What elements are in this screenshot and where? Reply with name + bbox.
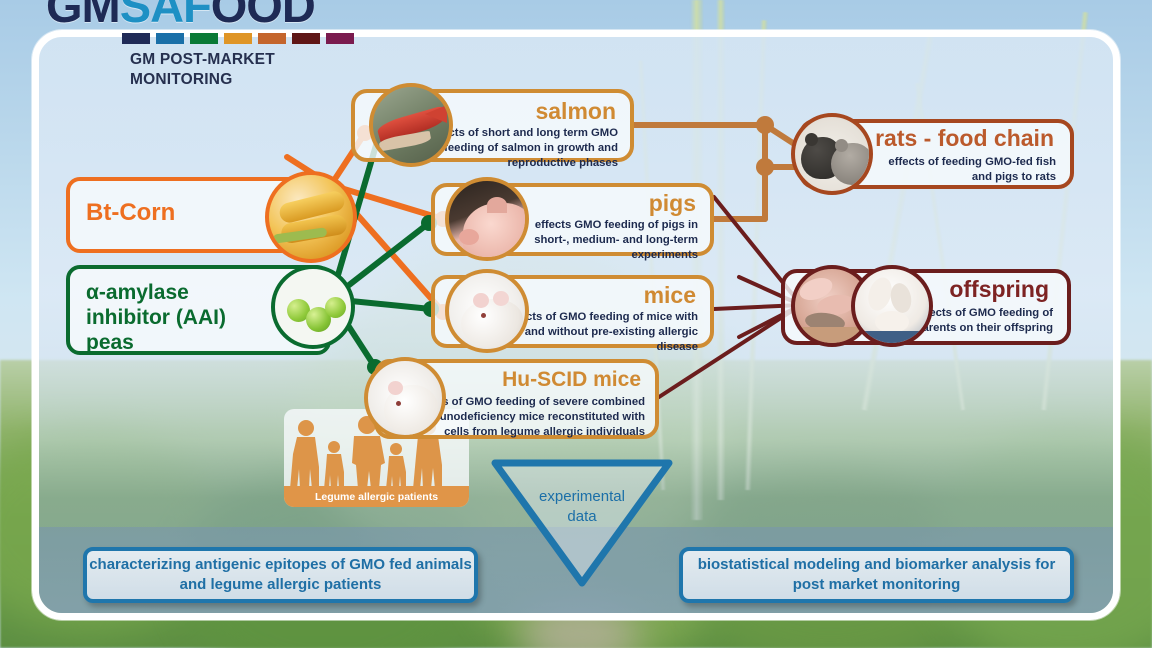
btcorn-label: Bt-Corn bbox=[86, 201, 175, 225]
peas-label: α-amylase inhibitor (AAI) peas bbox=[86, 281, 226, 355]
offspring-photo-bubble-2 bbox=[851, 265, 933, 347]
rat-ear bbox=[805, 133, 818, 146]
connector-node bbox=[756, 116, 774, 134]
diagram-frame: Bt-Corn α-amylase inhibitor (AAI) peas s… bbox=[32, 30, 1120, 620]
rats-desc: effects of feeding GMO-fed fish and pigs… bbox=[881, 155, 1056, 185]
pig-ear bbox=[487, 197, 507, 213]
logo-color-bar bbox=[156, 33, 184, 44]
page-title-line1: GM POST-MARKET bbox=[130, 50, 275, 70]
rats-title: rats - food chain bbox=[875, 127, 1054, 150]
legume-caption: Legume allergic patients bbox=[315, 491, 438, 503]
diagram-canvas: Bt-Corn α-amylase inhibitor (AAI) peas s… bbox=[39, 37, 1113, 613]
salmon-photo-bubble bbox=[369, 83, 453, 167]
offspring-title: offspring bbox=[949, 278, 1049, 301]
gmsafood-logo: GMSAFOOD bbox=[46, 0, 354, 44]
rat-ear bbox=[835, 139, 848, 152]
mice-title: mice bbox=[644, 284, 696, 307]
salmon-title: salmon bbox=[535, 100, 616, 123]
logo-text-gm: GM bbox=[46, 0, 120, 32]
output-epitopes-text: characterizing antigenic epitopes of GMO… bbox=[87, 555, 474, 595]
logo-text-ood: OOD bbox=[211, 0, 315, 32]
mouse-ear bbox=[388, 381, 403, 395]
pigs-title: pigs bbox=[649, 192, 696, 215]
logo-color-bar bbox=[122, 33, 150, 44]
page-title-line2: MONITORING bbox=[130, 70, 275, 90]
output-box-biostat[interactable]: biostatistical modeling and biomarker an… bbox=[679, 547, 1074, 603]
mouse-body bbox=[461, 299, 523, 347]
huscid-title: Hu-SCID mice bbox=[502, 369, 641, 390]
experimental-data-label: experimental data bbox=[491, 487, 673, 528]
connector-node bbox=[756, 158, 774, 176]
mouse-photo-bubble bbox=[445, 269, 529, 353]
mouse-ear bbox=[493, 291, 509, 306]
pig-photo-bubble bbox=[445, 177, 529, 261]
peas-label-line3: peas bbox=[86, 331, 226, 356]
mouse-pup bbox=[875, 311, 909, 333]
peas-photo-bubble bbox=[271, 265, 355, 349]
logo-color-bar bbox=[326, 33, 354, 44]
legume-caption-bar: Legume allergic patients bbox=[284, 486, 469, 507]
mouse-eye bbox=[481, 313, 486, 318]
rats-photo-bubble bbox=[791, 113, 873, 195]
logo-color-bars bbox=[122, 33, 354, 44]
logo-color-bar bbox=[190, 33, 218, 44]
mouse-ear bbox=[473, 293, 489, 308]
output-biostat-text: biostatistical modeling and biomarker an… bbox=[683, 555, 1070, 595]
pig-snout bbox=[459, 229, 479, 245]
peas-label-line2: inhibitor (AAI) bbox=[86, 306, 226, 331]
experimental-data-arrow: experimental data bbox=[491, 457, 673, 587]
logo-color-bar bbox=[292, 33, 320, 44]
pea-3 bbox=[325, 297, 346, 318]
output-box-epitopes[interactable]: characterizing antigenic epitopes of GMO… bbox=[83, 547, 478, 603]
logo-color-bar bbox=[258, 33, 286, 44]
logo-color-bar bbox=[224, 33, 252, 44]
logo-text-saf: SAF bbox=[120, 0, 211, 32]
peas-label-line1: α-amylase bbox=[86, 281, 226, 306]
logo-wordmark: GMSAFOOD bbox=[46, 0, 354, 29]
triangle-label-line2: data bbox=[491, 507, 673, 527]
mouse-eye bbox=[396, 401, 401, 406]
corn-photo-bubble bbox=[265, 171, 357, 263]
huscid-mouse-photo-bubble bbox=[364, 357, 446, 439]
page-title: GM POST-MARKET MONITORING bbox=[130, 50, 275, 90]
triangle-label-line1: experimental bbox=[491, 487, 673, 507]
mouse-pup bbox=[888, 281, 914, 315]
